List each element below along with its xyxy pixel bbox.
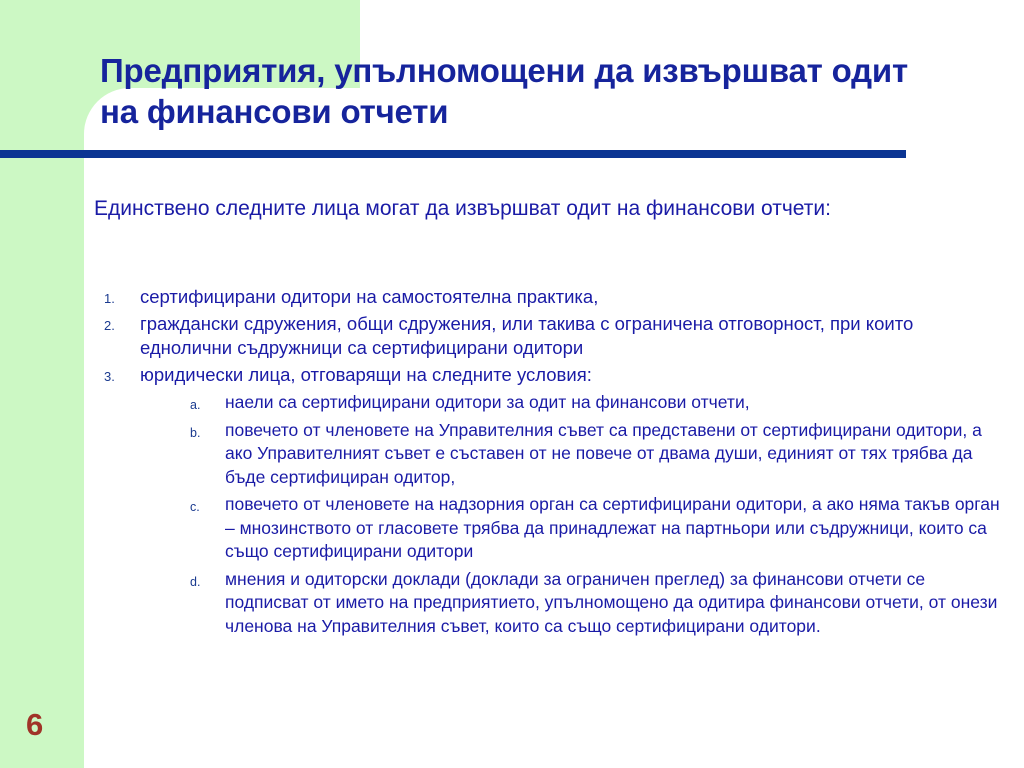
nested-list-item-marker: b.	[190, 422, 214, 446]
nested-list-item-text: мнения и одиторски доклади (доклади за о…	[225, 569, 997, 636]
nested-list: a. наели са сертифицирани одитори за оди…	[140, 391, 1010, 638]
list-item: 3. юридически лица, отговарящи на следни…	[100, 363, 1010, 638]
nested-list-item-text: повечето от членовете на Управителния съ…	[225, 420, 982, 487]
nested-list-item-text: наели са сертифицирани одитори за одит н…	[225, 392, 750, 412]
nested-list-item-marker: d.	[190, 571, 214, 595]
intro-paragraph: Единствено следните лица могат да извърш…	[94, 192, 924, 225]
list-item: 1. сертифицирани одитори на самостоятелн…	[100, 285, 1010, 309]
nested-list-item-marker: c.	[190, 496, 214, 520]
nested-list-item-marker: a.	[190, 394, 214, 418]
list-item-text: сертифицирани одитори на самостоятелна п…	[140, 285, 1010, 309]
list-item: 2. граждански сдружения, общи сдружения,…	[100, 312, 1010, 360]
list-item-marker: 2.	[104, 314, 130, 338]
decorative-green-left-column	[0, 0, 84, 768]
nested-list-item: b. повечето от членовете на Управителния…	[190, 419, 1010, 490]
numbered-list: 1. сертифицирани одитори на самостоятелн…	[100, 285, 1010, 642]
list-item-text: граждански сдружения, общи сдружения, ил…	[140, 312, 1010, 360]
title-divider-rule	[0, 150, 906, 158]
slide-title: Предприятия, упълномощени да извършват о…	[100, 50, 930, 132]
list-item-marker: 1.	[104, 287, 130, 311]
nested-list-item: c. повечето от членовете на надзорния ор…	[190, 493, 1010, 564]
slide: Предприятия, упълномощени да извършват о…	[0, 0, 1024, 768]
page-number: 6	[26, 706, 70, 744]
nested-list-item: d. мнения и одиторски доклади (доклади з…	[190, 568, 1010, 639]
nested-list-item: a. наели са сертифицирани одитори за оди…	[190, 391, 1010, 415]
nested-list-item-text: повечето от членовете на надзорния орган…	[225, 494, 1000, 561]
list-item-marker: 3.	[104, 365, 130, 389]
list-item-text: юридически лица, отговарящи на следните …	[140, 363, 1010, 387]
